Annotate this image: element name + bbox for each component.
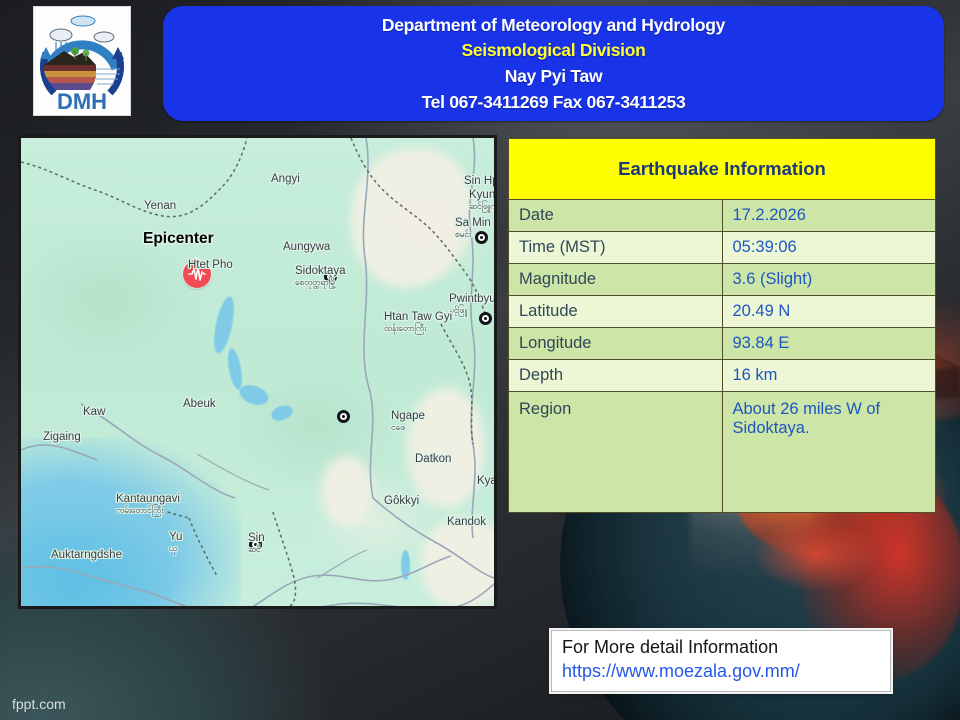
map-place-label: Kaw [83,406,105,418]
map-place-name: Aungywa [283,241,330,253]
map-place-name-local: ဆင်ဖြူကျွန်း [469,201,497,214]
map-place-name: Auktarngdshe [51,549,122,561]
header-line-contact: Tel 067-3411269 Fax 067-3411253 [422,91,686,114]
map-place-name: Datkon [415,453,451,465]
slide-canvas: DMH Department of Meteorology and Hydrol… [0,0,960,720]
info-table-row: Magnitude3.6 (Slight) [509,264,936,296]
map-place-name: Kyau [477,475,497,487]
map-place-label: Sidoktayaစေတုတ္တရာမြို့ [295,265,346,290]
dmh-logo-graphic: DMH [34,7,130,115]
dmh-logo-text: DMH [57,89,107,114]
map-terrain-layer: Epicenter AngyiYenanSin HpaKyunဆင်ဖြူကျွ… [21,138,494,606]
map-place-label: Angyi [271,173,300,185]
map-place-name-local: ထန်းတောကြီး [384,323,452,336]
map-place-label: Kandok [447,516,486,528]
map-place-name-local: ပွင့်ဖြူ [449,305,496,318]
info-row-value: 20.49 N [722,296,936,328]
map-place-label: Htan Taw Gyiထန်းတောကြီး [384,311,452,336]
info-row-label: Depth [509,360,723,392]
header-line-department: Department of Meteorology and Hydrology [382,14,725,37]
more-info-link[interactable]: https://www.moezala.gov.mm/ [562,659,880,683]
map-place-name: Sin [248,532,265,544]
fppt-watermark: fppt.com [12,696,66,712]
map-place-label: Ngapeငဖေ [391,410,425,435]
info-row-value: About 26 miles W of Sidoktaya. [722,392,936,513]
map-place-name: Kyun [469,189,495,201]
dmh-water-cycle-logo: DMH [34,7,130,115]
info-row-label: Date [509,200,723,232]
info-row-value: 3.6 (Slight) [722,264,936,296]
info-row-label: Region [509,392,723,513]
info-row-value: 05:39:06 [722,232,936,264]
map-place-name: Sa Min [455,217,491,229]
map-place-label: Sin Hpa [464,175,497,187]
map-place-label: Abeuk [183,398,216,410]
map-place-name: Zigaing [43,431,81,443]
background-lava-glow-3 [756,520,876,590]
map-place-name: Sidoktaya [295,265,346,277]
info-row-label: Time (MST) [509,232,723,264]
map-place-name-local: စမင်း [455,229,491,242]
map-place-label: Kantaungaviကမ်းတောင်ကြီး [116,493,180,518]
info-row-value: 93.84 E [722,328,936,360]
map-place-name: Yu [169,531,182,543]
header-line-division: Seismological Division [461,39,645,62]
map-place-label: Auktarngdshe [51,549,122,561]
map-place-label: Sinဆင် [248,532,265,557]
map-place-label: Yuယု [169,531,182,556]
more-info-text: For More detail Information [562,635,880,659]
map-place-name-local: စေတုတ္တရာမြို့ [295,277,346,290]
map-place-name: Kaw [83,406,105,418]
map-place-name-local: ယု [169,543,182,556]
info-table-row: Longitude93.84 E [509,328,936,360]
map-place-name-local: ငဖေ [391,422,425,435]
earthquake-info-table: Earthquake Information Date17.2.2026Time… [508,138,936,513]
map-place-label: Aungywa [283,241,330,253]
map-place-label: Sa Minစမင်း [455,217,491,242]
map-place-name: Gôkkyi [384,495,419,507]
map-place-label: Datkon [415,453,451,465]
info-row-value: 17.2.2026 [722,200,936,232]
map-place-label: Kyau [477,475,497,487]
map-place-label: Kyunဆင်ဖြူကျွန်း [469,189,497,214]
map-poi-ngape[interactable] [337,410,350,423]
more-info-box[interactable]: For More detail Information https://www.… [551,630,891,692]
map-place-name: Htan Taw Gyi [384,311,452,323]
info-row-label: Longitude [509,328,723,360]
info-table-row: Depth16 km [509,360,936,392]
map-place-label: Pwintbyuပွင့်ဖြူ [449,293,496,318]
map-place-name: Kandok [447,516,486,528]
info-table-title: Earthquake Information [509,139,936,200]
map-place-name-local: ကမ်းတောင်ကြီး [116,505,180,518]
epicenter-text-label: Epicenter [143,230,214,248]
map-place-name: Angyi [271,173,300,185]
header-line-city: Nay Pyi Taw [505,65,603,88]
map-place-name: Htet Pho [188,259,233,271]
info-row-label: Latitude [509,296,723,328]
map-place-name: Abeuk [183,398,216,410]
info-row-value: 16 km [722,360,936,392]
info-row-label: Magnitude [509,264,723,296]
info-table-row: Time (MST)05:39:06 [509,232,936,264]
map-place-name: Sin Hpa [464,175,497,187]
map-place-label: Gôkkyi [384,495,419,507]
map-place-name: Yenan [144,200,176,212]
map-place-label: Htet Pho [188,259,233,271]
header-banner: Department of Meteorology and Hydrology … [163,6,944,121]
map-place-label: Zigaing [43,431,81,443]
epicenter-map[interactable]: Epicenter AngyiYenanSin HpaKyunဆင်ဖြူကျွ… [18,135,497,609]
info-table-row: Latitude20.49 N [509,296,936,328]
map-place-name: Pwintbyu [449,293,496,305]
map-place-label: Yenan [144,200,176,212]
info-table-row: Date17.2.2026 [509,200,936,232]
map-place-name: Kantaungavi [116,493,180,505]
map-place-name: Ngape [391,410,425,422]
info-table-row: RegionAbout 26 miles W of Sidoktaya. [509,392,936,513]
map-place-name-local: ဆင် [248,544,265,557]
